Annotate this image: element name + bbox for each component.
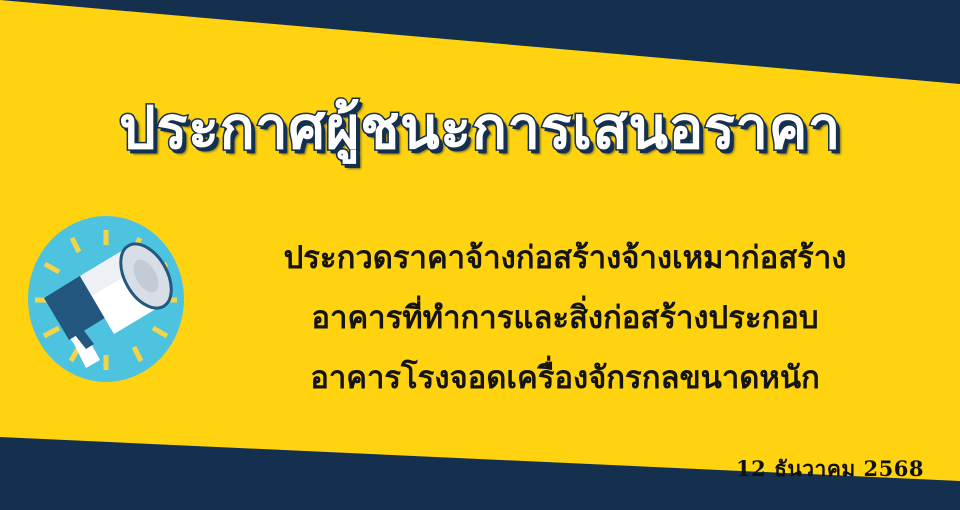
body-line-3: อาคารโรงจอดเครื่องจักรกลขนาดหนัก bbox=[215, 348, 915, 408]
megaphone-icon bbox=[24, 212, 188, 386]
top-right-navy-wedge bbox=[0, 0, 960, 84]
announcement-poster: ประกาศผู้ชนะการเสนอราคา ประกวดราคาจ้างก่… bbox=[0, 0, 960, 510]
body-line-2: อาคารที่ทำการและสิ่งก่อสร้างประกอบ bbox=[215, 288, 915, 348]
announcement-body: ประกวดราคาจ้างก่อสร้างจ้างเหมาก่อสร้าง อ… bbox=[215, 228, 915, 408]
announcement-date: 12 ธันวาคม 2568 bbox=[736, 453, 924, 486]
page-title: ประกาศผู้ชนะการเสนอราคา bbox=[0, 98, 960, 159]
megaphone-badge bbox=[24, 212, 188, 386]
body-line-1: ประกวดราคาจ้างก่อสร้างจ้างเหมาก่อสร้าง bbox=[215, 228, 915, 288]
headline-text: ประกาศผู้ชนะการเสนอราคา bbox=[119, 98, 841, 159]
